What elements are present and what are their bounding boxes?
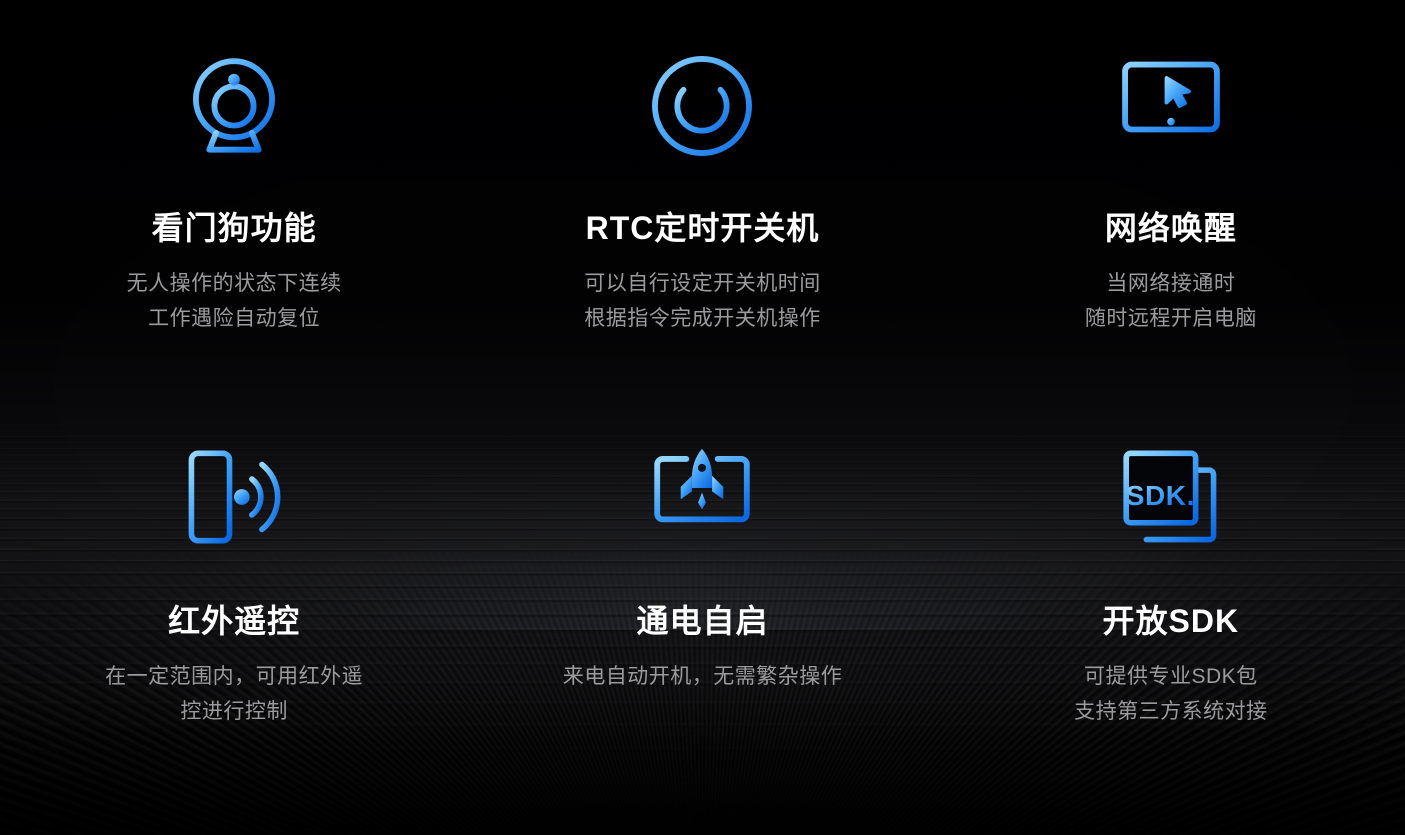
feature-description-line: 无人操作的状态下连续 [127, 266, 342, 301]
feature-card-infrared-remote[interactable]: 红外遥控 在一定范围内，可用红外遥 控进行控制 [0, 395, 468, 835]
feature-description-line: 可以自行设定开关机时间 [584, 266, 821, 301]
feature-description-line: 支持第三方系统对接 [1074, 694, 1268, 729]
feature-description-line: 在一定范围内，可用红外遥 [105, 659, 363, 694]
sdk-icon-label: SDK. [1126, 480, 1195, 511]
feature-description-line: 控进行控制 [105, 694, 363, 729]
feature-description-line: 根据指令完成开关机操作 [584, 301, 821, 336]
feature-title: 看门狗功能 [152, 212, 317, 244]
feature-title: RTC定时开关机 [586, 212, 820, 244]
feature-title: 通电自启 [636, 605, 768, 637]
feature-card-wake-on-lan[interactable]: 网络唤醒 当网络接通时 随时远程开启电脑 [937, 0, 1405, 395]
feature-description-line: 工作遇险自动复位 [127, 301, 342, 336]
feature-description-line: 随时远程开启电脑 [1085, 301, 1257, 336]
sdk-windows-icon: SDK. [1109, 435, 1233, 559]
feature-description: 当网络接通时 随时远程开启电脑 [1085, 266, 1257, 336]
feature-description-line: 当网络接通时 [1085, 266, 1257, 301]
feature-showcase: 看门狗功能 无人操作的状态下连续 工作遇险自动复位 RTC定时开关机 可以自行设… [0, 0, 1405, 835]
feature-title: 开放SDK [1103, 605, 1240, 637]
feature-grid: 看门狗功能 无人操作的状态下连续 工作遇险自动复位 RTC定时开关机 可以自行设… [0, 0, 1405, 835]
feature-description: 可提供专业SDK包 支持第三方系统对接 [1074, 659, 1268, 729]
remote-signal-icon [172, 435, 296, 559]
power-icon [640, 44, 764, 168]
feature-card-watchdog[interactable]: 看门狗功能 无人操作的状态下连续 工作遇险自动复位 [0, 0, 468, 395]
feature-card-rtc-timer[interactable]: RTC定时开关机 可以自行设定开关机时间 根据指令完成开关机操作 [468, 0, 936, 395]
webcam-icon [172, 44, 296, 168]
monitor-cursor-icon [1109, 44, 1233, 168]
feature-card-open-sdk[interactable]: SDK. 开放SDK 可提供专业SDK包 支持第三方系统对接 [937, 395, 1405, 835]
feature-description-line: 来电自动开机，无需繁杂操作 [563, 659, 843, 694]
feature-title: 红外遥控 [168, 605, 300, 637]
feature-description: 可以自行设定开关机时间 根据指令完成开关机操作 [584, 266, 821, 336]
feature-title: 网络唤醒 [1105, 212, 1237, 244]
feature-description-line: 可提供专业SDK包 [1074, 659, 1268, 694]
monitor-rocket-icon [640, 435, 764, 559]
feature-description: 无人操作的状态下连续 工作遇险自动复位 [127, 266, 342, 336]
feature-description: 来电自动开机，无需繁杂操作 [563, 659, 843, 694]
feature-description: 在一定范围内，可用红外遥 控进行控制 [105, 659, 363, 729]
feature-card-auto-power-on[interactable]: 通电自启 来电自动开机，无需繁杂操作 [468, 395, 936, 835]
